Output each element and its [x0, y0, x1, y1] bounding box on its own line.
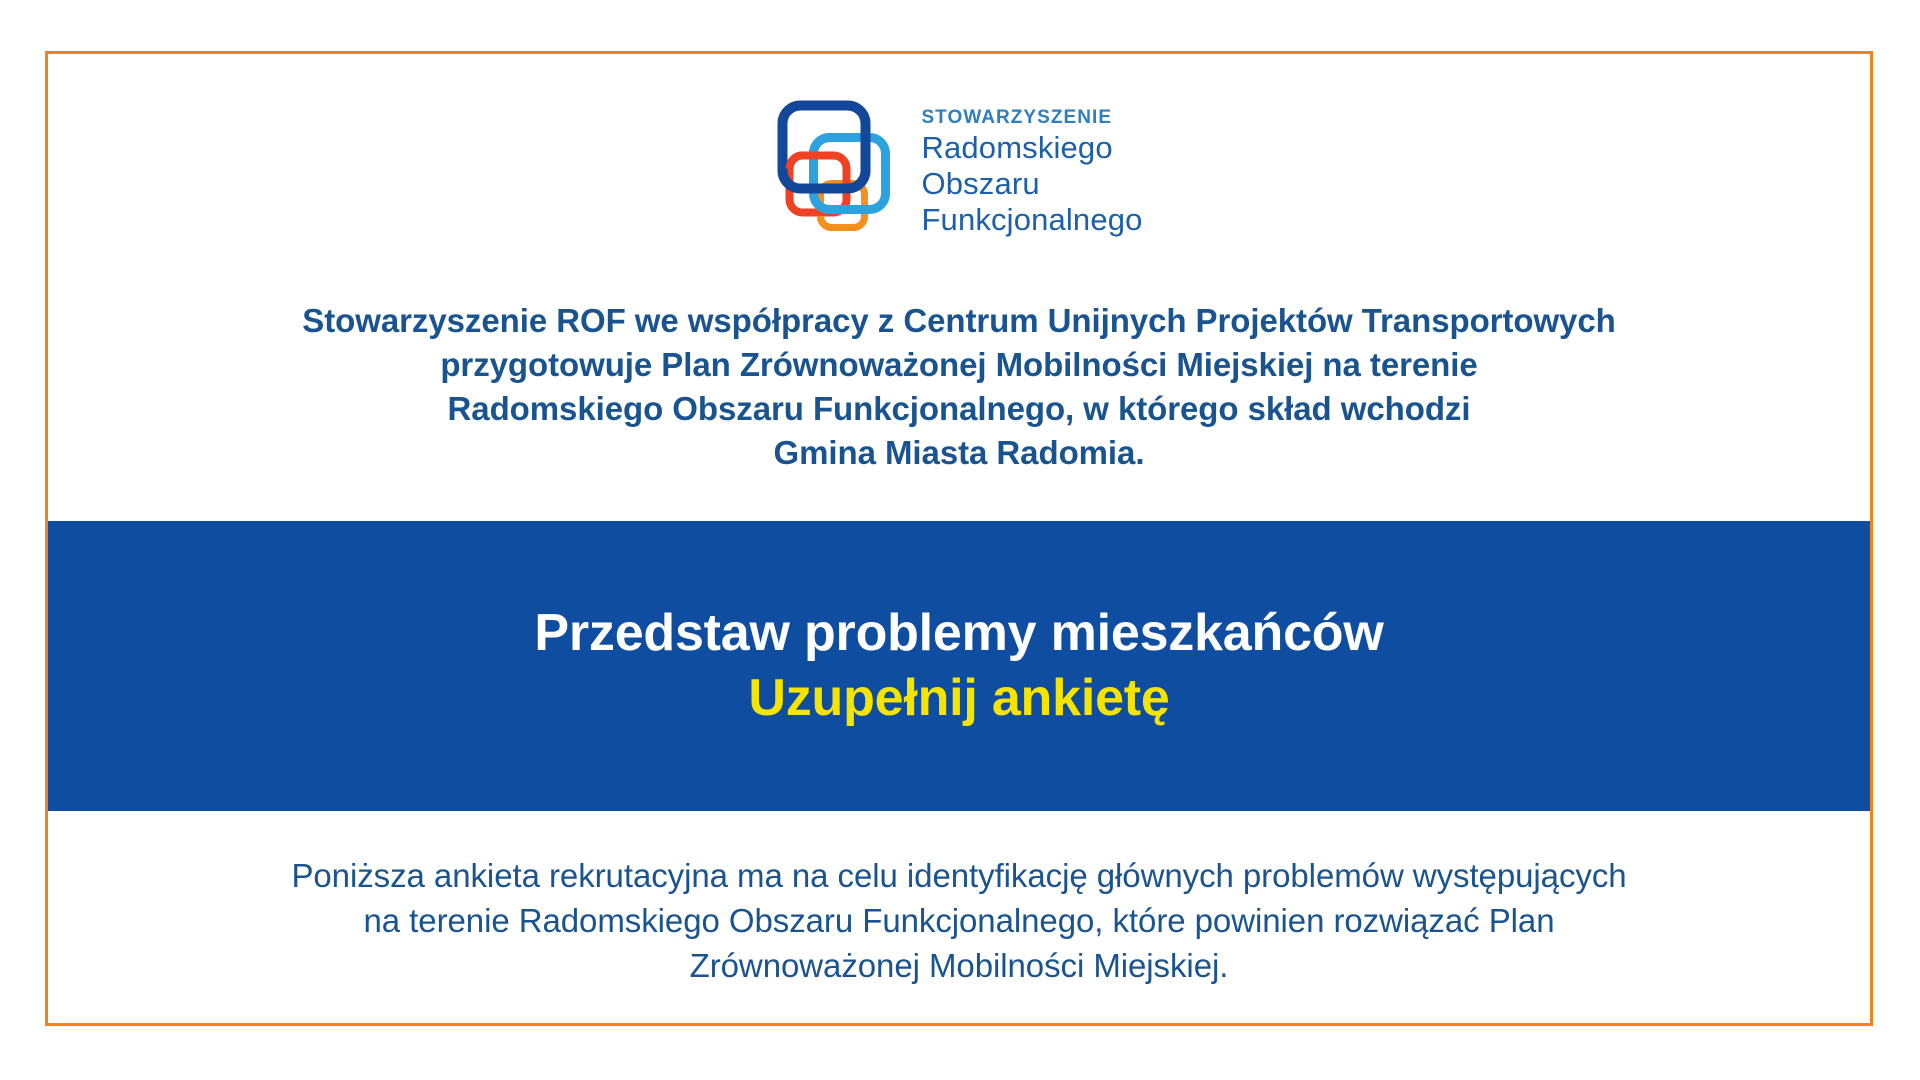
intro-line-1: Stowarzyszenie ROF we współpracy z Centr…: [88, 299, 1830, 343]
logo-square-dark-blue: [783, 106, 866, 189]
outro-line-3: Zrównoważonej Mobilności Miejskiej.: [83, 944, 1835, 989]
logo-weave-orange: [821, 216, 854, 228]
logo-line-1: Radomskiego: [921, 130, 1142, 166]
logo-line-3: Funkcjonalnego: [921, 202, 1142, 238]
logo-line-2: Obszaru: [921, 166, 1142, 202]
intro-line-3: Radomskiego Obszaru Funkcjonalnego, w kt…: [88, 387, 1830, 431]
outro-line-2: na terenie Radomskiego Obszaru Funkcjona…: [83, 899, 1835, 944]
intro-paragraph: Stowarzyszenie ROF we współpracy z Centr…: [88, 299, 1830, 475]
logo-kicker: STOWARZYSZENIE: [921, 106, 1142, 130]
outro-line-1: Poniższa ankieta rekrutacyjna ma na celu…: [83, 854, 1835, 899]
outro-paragraph: Poniższa ankieta rekrutacyjna ma na celu…: [83, 854, 1835, 989]
logo-weave-red: [790, 156, 826, 169]
poster-card: STOWARZYSZENIE Radomskiego Obszaru Funkc…: [45, 51, 1873, 1026]
banner-cta-link[interactable]: Uzupełnij ankietę: [748, 667, 1169, 730]
call-to-action-banner: Przedstaw problemy mieszkańców Uzupełnij…: [45, 521, 1873, 811]
intro-line-4: Gmina Miasta Radomia.: [88, 431, 1830, 475]
banner-headline: Przedstaw problemy mieszkańców: [534, 602, 1383, 665]
logo-block: STOWARZYSZENIE Radomskiego Obszaru Funkc…: [48, 98, 1870, 244]
intro-line-2: przygotowuje Plan Zrównoważonej Mobilnoś…: [88, 343, 1830, 387]
rof-logo-mark: [775, 98, 903, 244]
logo-wordmark: STOWARZYSZENIE Radomskiego Obszaru Funkc…: [921, 98, 1142, 238]
